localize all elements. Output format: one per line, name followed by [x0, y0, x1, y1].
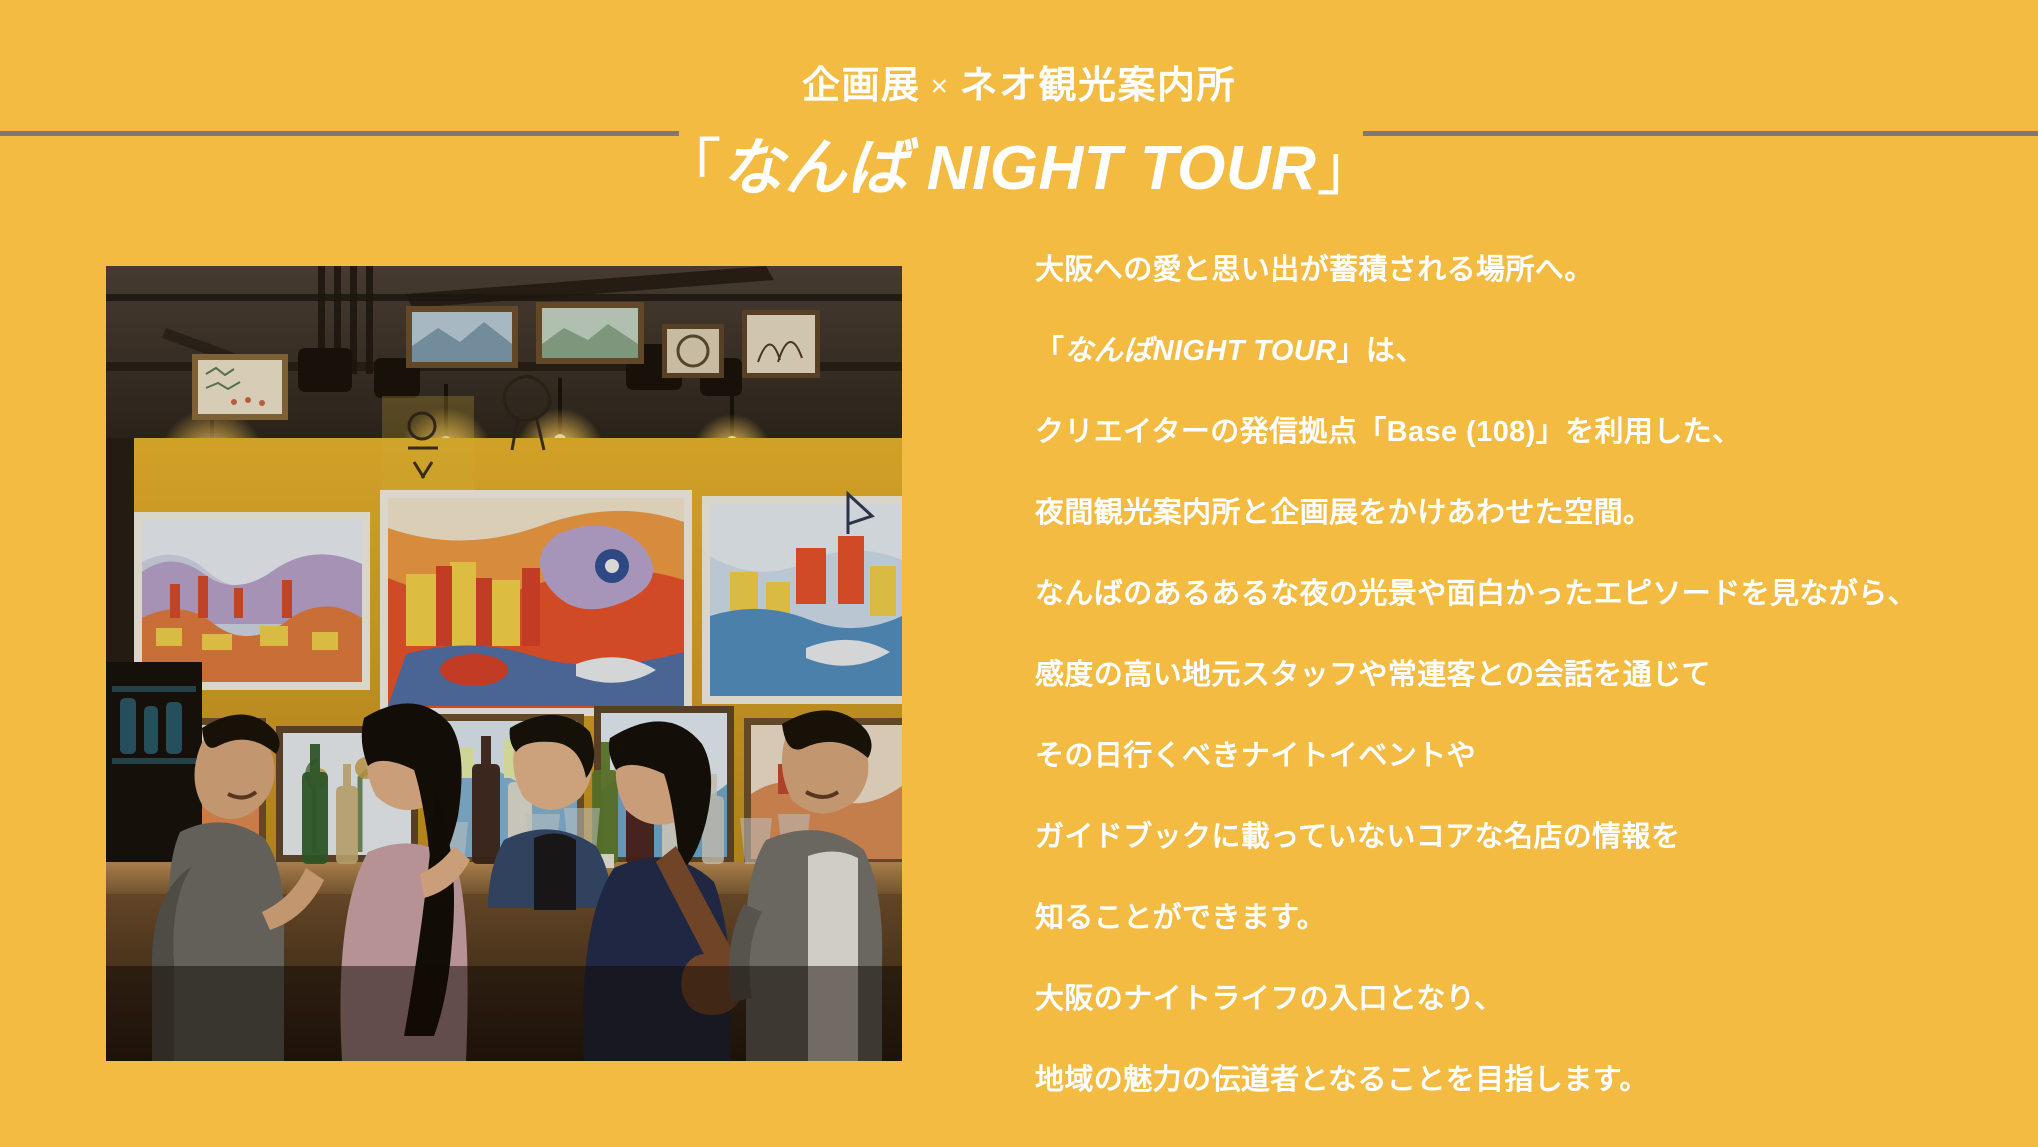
body-line: 知ることができます。: [1035, 904, 1995, 985]
body-line: なんばのあるあるな夜の光景や面白かったエピソードを見ながら、: [1035, 580, 1995, 661]
body-line: 大阪への愛と思い出が蓄積される場所へ。: [1035, 256, 1995, 337]
gallery-bar-photo: [106, 266, 902, 1061]
header-rule-left: [0, 131, 679, 136]
body-line: 「なんばNIGHT TOUR」は、: [1035, 337, 1995, 418]
body-line: 夜間観光案内所と企画展をかけあわせた空間。: [1035, 499, 1995, 580]
subtitle-right-text: ネオ観光案内所: [960, 65, 1237, 107]
body-line: その日行くべきナイトイベントや: [1035, 742, 1995, 823]
header: 企画展×ネオ観光案内所 「なんば NIGHT TOUR」: [0, 0, 2038, 215]
body-line: 地域の魅力の伝道者となることを目指します。: [1035, 1066, 1995, 1147]
subtitle-separator-icon: ×: [920, 70, 959, 103]
body-bracket-open: 「: [1035, 335, 1064, 367]
body-line: 感度の高い地元スタッフや常連客との会話を通じて: [1035, 661, 1995, 742]
subtitle: 企画展×ネオ観光案内所: [0, 67, 2038, 105]
slide-root: 企画展×ネオ観光案内所 「なんば NIGHT TOUR」: [0, 0, 2038, 1142]
page-title: 「なんば NIGHT TOUR」: [0, 138, 2038, 200]
body-line: 大阪のナイトライフの入口となり、: [1035, 985, 1995, 1066]
body-brand-jp: なんば: [1064, 335, 1152, 367]
title-bracket-close: 」: [1316, 138, 1378, 200]
subtitle-left-text: 企画展: [802, 65, 921, 107]
body-line: クリエイターの発信拠点「Base (108)」を利用した、: [1035, 418, 1995, 499]
body-bracket-close: 」は、: [1337, 335, 1425, 367]
body-brand-en: NIGHT TOUR: [1153, 335, 1337, 367]
description-body: 大阪への愛と思い出が蓄積される場所へ。 「なんばNIGHT TOUR」は、 クリ…: [1035, 256, 1995, 1147]
title-main-text: なんば NIGHT TOUR: [722, 134, 1317, 203]
header-rule-right: [1363, 131, 2038, 136]
photo-illustration: [106, 266, 902, 1061]
title-bracket-open: 「: [660, 138, 722, 200]
body-line: ガイドブックに載っていないコアな名店の情報を: [1035, 823, 1995, 904]
